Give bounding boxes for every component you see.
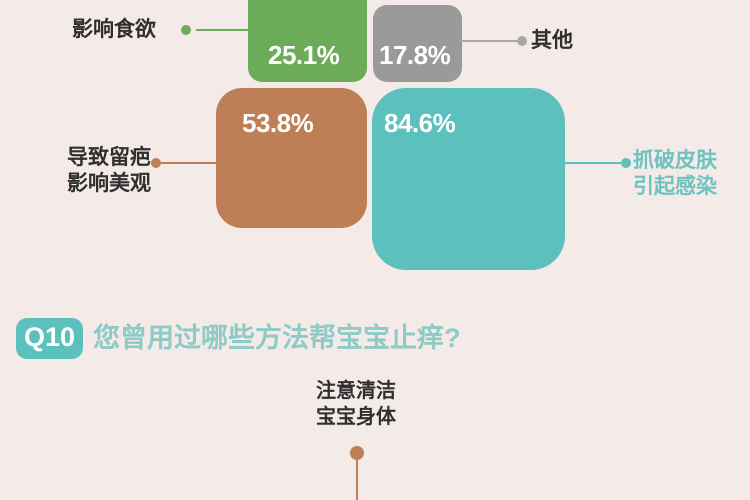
question-title: 您曾用过哪些方法帮宝宝止痒? — [93, 325, 461, 352]
question-heading: Q10 您曾用过哪些方法帮宝宝止痒? — [16, 318, 461, 359]
data-block-brown-value: 53.8% — [242, 110, 313, 136]
next-answer-dot — [350, 446, 364, 460]
callout-label-gray: 其他 — [531, 28, 573, 54]
connector-dot-gray — [517, 36, 527, 46]
data-block-gray-value: 17.8% — [379, 42, 450, 68]
next-answer-stem — [356, 459, 358, 500]
callout-label-brown: 导致留疤 影响美观 — [46, 145, 151, 197]
connector-dot-teal — [621, 158, 631, 168]
infographic-canvas: 25.1% 17.8% 53.8% 84.6% 影响食欲 其他 导致留疤 影响美… — [0, 0, 750, 500]
connector-line-gray — [460, 40, 522, 42]
question-number-badge: Q10 — [16, 318, 83, 359]
data-block-gray: 17.8% — [373, 5, 462, 82]
connector-line-brown — [160, 162, 220, 164]
callout-label-teal: 抓破皮肤 引起感染 — [633, 148, 717, 200]
connector-line-green — [196, 29, 252, 31]
data-block-brown: 53.8% — [216, 88, 367, 228]
connector-line-teal — [563, 162, 629, 164]
connector-dot-green — [181, 25, 191, 35]
data-block-green-value: 25.1% — [268, 42, 339, 68]
data-block-teal: 84.6% — [372, 88, 565, 270]
data-block-green: 25.1% — [248, 0, 367, 82]
data-block-teal-value: 84.6% — [384, 110, 455, 136]
connector-dot-brown — [151, 158, 161, 168]
callout-label-green: 影响食欲 — [72, 17, 156, 43]
next-answer-label: 注意清洁 宝宝身体 — [256, 378, 456, 430]
